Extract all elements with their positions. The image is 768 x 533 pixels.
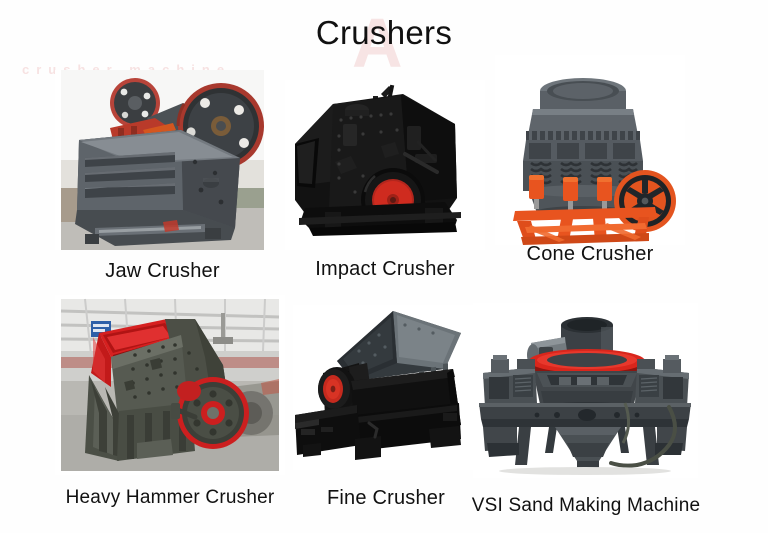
jaw-crusher-photo <box>55 70 270 250</box>
caption-impact-crusher: Impact Crusher <box>275 258 495 281</box>
caption-jaw-crusher: Jaw Crusher <box>55 260 270 283</box>
caption-vsi-sand-making-machine: VSI Sand Making Machine <box>451 495 721 517</box>
caption-cone-crusher: Cone Crusher <box>490 243 690 266</box>
cone-crusher-photo <box>495 55 685 245</box>
impact-crusher-photo <box>285 80 485 250</box>
caption-heavy-hammer-crusher: Heavy Hammer Crusher <box>30 487 310 509</box>
page-title: Crushers <box>0 14 768 52</box>
heavy-hammer-crusher-photo <box>55 295 285 475</box>
infographic-page: A crusher machine Crushers <box>0 0 768 533</box>
fine-crusher-photo <box>293 305 478 470</box>
crusher-grid: Jaw Crusher <box>0 55 768 533</box>
vsi-sand-making-machine-photo <box>473 303 698 478</box>
